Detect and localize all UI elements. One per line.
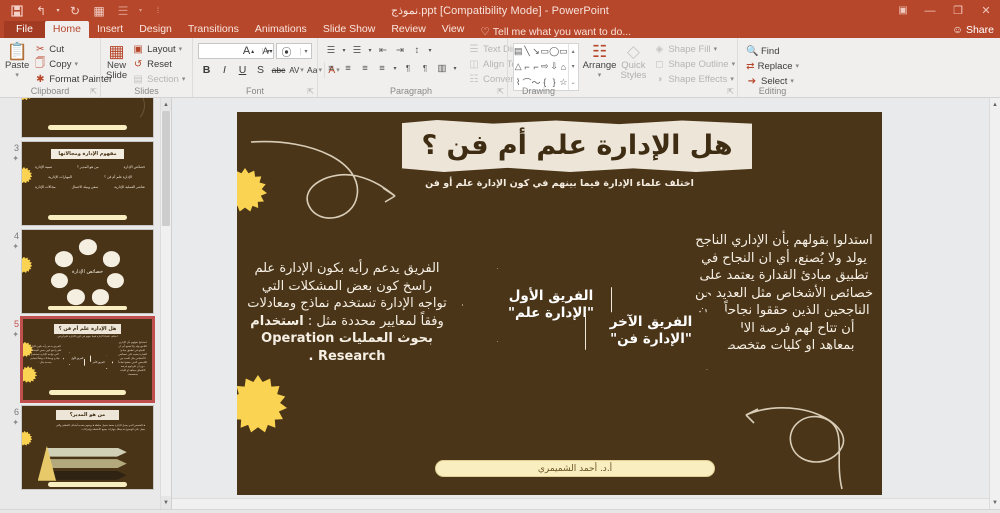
starburst-icon — [237, 375, 287, 433]
slide-horizontal-scrollbar[interactable] — [172, 498, 989, 509]
shapes-scroll-up-icon[interactable]: ▴ — [569, 44, 578, 59]
thumbnail-slide[interactable]: خصائص الإدارة — [21, 229, 154, 314]
list-item[interactable]: Management's Concept and Stage — [6, 98, 154, 138]
quick-access-toolbar[interactable]: ↰ ▾ ↻ ▦ ☰ ▾ ⁞ — [0, 1, 169, 20]
list-item[interactable]: 3 ✦ مفهوم الإدارة ومجالاتها تنمية الإدار… — [6, 138, 154, 226]
title-bar: ↰ ▾ ↻ ▦ ☰ ▾ ⁞ نموذج.ppt [Compatibility M… — [0, 0, 1000, 21]
shape-fill-label: Shape Fill — [668, 44, 710, 55]
tab-insert[interactable]: Insert — [89, 21, 131, 38]
bullets-icon[interactable]: ☰ — [112, 1, 134, 20]
copy-caret-icon[interactable]: ▾ — [74, 60, 78, 68]
align-center-button[interactable]: ≡ — [340, 61, 356, 76]
italic-glyph: I — [223, 64, 226, 76]
thumbnail-number-label: 4 — [14, 231, 19, 241]
layout-label: Layout — [147, 44, 176, 55]
align-left-glyph: ≡ — [328, 63, 334, 74]
tab-home[interactable]: Home — [45, 21, 89, 38]
shape-fill-button[interactable]: ◈ Shape Fill ▾ — [650, 42, 738, 56]
pyramid-bar-1 — [46, 448, 127, 457]
slide-vertical-scrollbar[interactable]: ▲ ▼ — [989, 98, 1000, 509]
shape-textbox-icon[interactable]: ▤ — [514, 44, 523, 59]
arrow-left-line-2: "الإدارة علم" — [508, 305, 594, 322]
thumbnails-scrollbar[interactable]: ▲ ▼ — [160, 98, 171, 509]
copy-label: Copy — [49, 59, 71, 70]
starburst-icon — [21, 257, 32, 274]
ribbon-group-slides: ▦ New Slide ▣ Layout ▾ ↺ Reset ▤ Section… — [100, 38, 192, 97]
shape-outline-button[interactable]: ◻ Shape Outline ▾ — [650, 57, 738, 71]
starburst-icon — [21, 366, 37, 383]
arrange-button[interactable]: ☷ Arrange ▾ — [583, 40, 617, 81]
align-right-button[interactable]: ≡ — [357, 61, 373, 76]
bullets-glyph: ☰ — [327, 45, 336, 56]
ribbon-display-options-icon[interactable]: ▣ — [890, 0, 916, 21]
thumbnail-right-text: استدلوا بقولهم بأن الإداري الناجح يولد و… — [117, 341, 148, 377]
arrow-right-line-2: "الإدارة فن" — [610, 331, 693, 348]
redo-glyph: ↻ — [70, 5, 80, 17]
quick-styles-label-2: Styles — [620, 71, 646, 81]
decrease-indent-glyph: ⇤ — [379, 45, 387, 56]
section-icon: ▤ — [132, 74, 144, 85]
star-icon: ✦ — [6, 154, 19, 164]
bullets-glyph: ☰ — [118, 5, 129, 17]
lightbulb-icon: ♡ — [480, 26, 489, 38]
swirl-arrow-decoration-bottom — [722, 385, 872, 495]
numbering-button[interactable]: ☰ — [349, 43, 365, 58]
text-shadow-button[interactable]: S — [252, 62, 269, 78]
scrollbar-thumb[interactable] — [162, 111, 170, 226]
slide-subtitle: اختلف علماء الإدارة فيما بينهم في كون ال… — [237, 178, 882, 189]
scroll-up-icon[interactable]: ▲ — [990, 98, 1000, 111]
restore-button[interactable]: ❐ — [944, 0, 972, 21]
circle-diagram — [53, 242, 121, 302]
layout-icon: ▣ — [132, 44, 144, 55]
shape-oval-icon[interactable]: ◯ — [549, 44, 559, 59]
thumbnail-number-label: 3 — [14, 143, 19, 153]
font-size-caret-icon[interactable]: ▾ — [300, 48, 311, 55]
shapes-gallery[interactable]: ▤ ╲ ↘ ▭ ◯ ▭ △ ⌐ ⌐ ⇨ ⇩ ⌂ ⌇ ⌒ 〜 { } — [513, 43, 579, 91]
thumbnail-banner — [48, 306, 127, 310]
qat-more-icon[interactable]: ⁞ — [147, 1, 169, 20]
thumbnail-slide[interactable]: مفهوم الإدارة ومجالاتها تنمية الإدارة من… — [21, 141, 154, 226]
shape-right-arrow-icon[interactable]: ⇨ — [541, 59, 550, 74]
thumbnail-heading: من هو المدير؟ — [56, 410, 119, 420]
shape-line-icon[interactable]: ╲ — [523, 44, 532, 59]
shape-fill-icon: ◈ — [653, 44, 665, 55]
replace-caret-icon[interactable]: ▾ — [795, 62, 799, 70]
clipboard-icon: 📋 — [7, 42, 28, 61]
ribbon-group-clipboard: 📋 Paste ▾ ✂ Cut 🗍 Copy ▾ ✱ Format Painte… — [0, 38, 100, 97]
undo-dropdown-icon[interactable]: ▾ — [54, 1, 62, 20]
bold-button[interactable]: B — [198, 62, 215, 78]
thumbnail-bullets: ● الشخص الذي يعمل الإدارة بصفة تحمل سلطة… — [51, 424, 145, 432]
star-icon: ✦ — [6, 330, 19, 340]
shape-effects-caret-icon: ▾ — [730, 75, 734, 83]
paragraph-group-label: Paragraph — [318, 86, 507, 96]
shadow-glyph: S — [257, 64, 264, 76]
new-slide-label-2: Slide — [106, 71, 127, 81]
window-controls[interactable]: ▣ — ❐ ✕ — [890, 0, 1000, 21]
starburst-icon — [21, 98, 34, 100]
paste-button[interactable]: 📋 Paste ▾ — [5, 40, 29, 81]
shape-elbow-icon[interactable]: ⌐ — [523, 59, 532, 74]
start-presentation-icon[interactable]: ▦ — [88, 1, 110, 20]
tab-slide-show[interactable]: Slide Show — [315, 21, 384, 38]
align-center-glyph: ≡ — [345, 63, 351, 74]
pyramid-bar-2 — [46, 459, 127, 468]
arrow-left-line-1: الفريق الأول — [508, 288, 594, 305]
drawing-dialog-launcher-icon[interactable]: ⇱ — [727, 87, 734, 96]
thumbnail-slide[interactable]: من هو المدير؟ ● الشخص الذي يعمل الإدارة … — [21, 405, 154, 490]
replace-label: Replace — [758, 61, 793, 72]
paste-caret-icon[interactable]: ▾ — [15, 71, 19, 81]
thumbnail-banner — [48, 482, 127, 486]
decrease-indent-button[interactable]: ⇤ — [375, 43, 391, 58]
shape-pentagon-icon[interactable]: ⌂ — [559, 59, 568, 74]
save-icon[interactable] — [6, 1, 28, 20]
ribbon-group-editing: 🔍 Find ⇄ Replace ▾ ➔ Select ▾ Editing — [737, 38, 807, 97]
columns-glyph: ▥ — [438, 63, 447, 74]
layout-caret-icon[interactable]: ▾ — [179, 45, 183, 53]
arrange-label: Arrange — [583, 61, 617, 71]
thumbnail-heading: هل الإدارة علم أم فن ؟ — [54, 324, 121, 334]
cursor-icon: ➔ — [746, 76, 758, 87]
shape-rectangle-icon[interactable]: ▭ — [541, 44, 550, 59]
thumbnail-left-text: الفريق يدعم رأيه بكون الإدارة علم راسخ ك… — [28, 345, 62, 365]
align-left-button[interactable]: ≡ — [323, 61, 339, 76]
tell-me-search[interactable]: ♡ Tell me what you want to do... — [480, 26, 631, 38]
scroll-down-icon[interactable]: ▼ — [161, 496, 171, 509]
strikethrough-button[interactable]: abc — [270, 62, 287, 78]
increase-font-size-button[interactable]: A▴ — [240, 43, 257, 59]
section-label: Section — [147, 74, 179, 85]
font-dialog-launcher-icon[interactable]: ⇱ — [307, 87, 314, 96]
thumbnail-list[interactable]: Management's Concept and Stage 3 ✦ مفهوم… — [0, 98, 160, 509]
underline-button[interactable]: U — [234, 62, 251, 78]
slide-editing-canvas[interactable]: هل الإدارة علم أم فن ؟ اختلف علماء الإدا… — [172, 98, 1000, 509]
line-spacing-button[interactable]: ↕ — [409, 43, 425, 58]
justify-glyph: ≡ — [379, 63, 385, 74]
undo-icon[interactable]: ↰ — [30, 1, 52, 20]
quick-styles-icon: ◇ — [627, 42, 640, 61]
work-area: Management's Concept and Stage 3 ✦ مفهوم… — [0, 98, 1000, 509]
tab-review[interactable]: Review — [383, 21, 433, 38]
person-icon: ☺ — [952, 24, 963, 36]
ltr-glyph: ¶ — [406, 64, 410, 73]
select-caret-icon[interactable]: ▾ — [790, 77, 794, 85]
thumbnail-number-label: 6 — [14, 407, 19, 417]
tell-me-placeholder: Tell me what you want to do... — [493, 26, 631, 38]
reset-label: Reset — [147, 59, 172, 70]
line-spacing-caret-icon[interactable]: ▾ — [426, 43, 434, 58]
star-icon: ✦ — [6, 242, 19, 252]
ribbon-group-font: ▾ ▾ B I U S abc AV▾ Aa▾ A▾ A▴ A▾ ⦿ — [192, 38, 317, 97]
ribbon: 📋 Paste ▾ ✂ Cut 🗍 Copy ▾ ✱ Format Painte… — [0, 38, 1000, 98]
pyramid-bar-3 — [46, 471, 127, 480]
slide-title-band[interactable]: هل الإدارة علم أم فن ؟ — [402, 120, 752, 172]
clipboard-group-label: Clipboard — [0, 86, 100, 96]
select-label: Select — [761, 76, 787, 87]
ltr-button[interactable]: ¶ — [400, 61, 416, 76]
shape-rounded-rect-icon[interactable]: ▭ — [559, 44, 568, 59]
align-text-icon: ◫ — [468, 59, 480, 70]
list-item[interactable]: 5 ✦ هل الإدارة علم أم فن ؟ اختلف علماء ا… — [6, 314, 154, 402]
shape-outline-caret-icon: ▾ — [732, 60, 736, 68]
list-item[interactable]: 4 ✦ خصائص الإدارة — [6, 226, 154, 314]
shape-outline-icon: ◻ — [653, 59, 665, 70]
thumbnail-number: 6 ✦ — [6, 405, 19, 490]
char-spacing-glyph: AV — [289, 66, 299, 75]
shape-fill-caret-icon: ▾ — [714, 45, 718, 53]
shape-elbow-arrow-icon[interactable]: ⌐ — [532, 59, 541, 74]
find-button[interactable]: 🔍 Find — [743, 44, 802, 58]
thumbnail-slide[interactable]: Management's Concept and Stage — [21, 98, 154, 138]
thumbnail-banner — [49, 390, 126, 395]
bullets-button[interactable]: ☰ — [323, 43, 339, 58]
slide-title: هل الإدارة علم أم فن ؟ — [421, 131, 732, 161]
scroll-up-icon[interactable]: ▲ — [161, 98, 171, 111]
status-bar — [0, 509, 1000, 513]
thumbnail-banner — [48, 125, 127, 131]
redo-icon[interactable]: ↻ — [64, 1, 86, 20]
reset-icon: ↺ — [132, 59, 144, 70]
align-right-glyph: ≡ — [362, 63, 368, 74]
cut-label: Cut — [49, 44, 64, 55]
bullets-caret-icon[interactable]: ▾ — [340, 43, 348, 58]
ribbon-group-drawing: ▤ ╲ ↘ ▭ ◯ ▭ △ ⌐ ⌐ ⇨ ⇩ ⌂ ⌇ ⌒ 〜 { } — [507, 38, 737, 97]
reset-button[interactable]: ↺ Reset — [129, 57, 188, 71]
list-item[interactable]: 6 ✦ من هو المدير؟ ● الشخص الذي يعمل الإد… — [6, 402, 154, 490]
increase-indent-glyph: ⇥ — [396, 45, 404, 56]
tab-view[interactable]: View — [434, 21, 473, 38]
tab-transitions[interactable]: Transitions — [180, 21, 247, 38]
scroll-down-icon[interactable]: ▼ — [990, 496, 1000, 509]
quick-styles-button[interactable]: ◇ Quick Styles — [620, 40, 646, 81]
ribbon-tabs[interactable]: File Home Insert Design Transitions Anim… — [0, 21, 1000, 38]
qat-dropdown-icon[interactable]: ▾ — [136, 1, 145, 20]
strikethrough-glyph: abc — [272, 65, 286, 75]
character-spacing-button[interactable]: AV▾ — [288, 62, 305, 78]
thumbnail-number: 5 ✦ — [6, 317, 19, 402]
star-icon: ✦ — [6, 418, 19, 428]
tab-animations[interactable]: Animations — [247, 21, 315, 38]
starburst-icon — [21, 167, 32, 184]
slide-left-text-block[interactable]: الفريق يدعم رأيه بكون الإدارة علم راسخ ك… — [247, 260, 447, 365]
scissors-icon: ✂ — [34, 44, 46, 55]
undo-glyph: ↰ — [36, 5, 46, 17]
rtl-glyph: ¶ — [423, 64, 427, 73]
arrow-right-line-1: الفريق الآخر — [610, 314, 693, 331]
footer-banner-text: أ.د. أحمد الشميمري — [538, 464, 612, 474]
shapes-grid[interactable]: ▤ ╲ ↘ ▭ ◯ ▭ △ ⌐ ⌐ ⇨ ⇩ ⌂ ⌇ ⌒ 〜 { } — [514, 44, 568, 90]
thumbnail-number-label: 5 — [14, 319, 19, 329]
justify-button[interactable]: ≡ — [374, 61, 390, 76]
new-slide-button[interactable]: ▦ New Slide — [106, 40, 127, 81]
shapes-gallery-scroll[interactable]: ▴ ▾ ⌄ — [568, 44, 578, 90]
shapes-scroll-down-icon[interactable]: ▾ — [569, 59, 578, 74]
text-direction-icon: ☰ — [468, 44, 480, 55]
new-slide-icon: ▦ — [109, 42, 125, 61]
slides-group-label: Slides — [101, 86, 192, 96]
starburst-icon — [237, 168, 267, 212]
shape-arrow-icon[interactable]: ↘ — [532, 44, 541, 59]
paragraph-dialog-launcher-icon[interactable]: ⇱ — [497, 87, 504, 96]
shape-effects-label: Shape Effects — [668, 74, 727, 85]
paste-label: Paste — [5, 61, 29, 71]
arrange-icon: ☷ — [592, 42, 607, 61]
decrease-font-size-button[interactable]: A▾ — [259, 43, 276, 59]
minimize-button[interactable]: — — [916, 0, 944, 21]
layout-button[interactable]: ▣ Layout ▾ — [129, 42, 188, 56]
drawing-group-label: Drawing — [508, 86, 737, 96]
replace-button[interactable]: ⇄ Replace ▾ — [743, 59, 802, 73]
share-button[interactable]: ☺ Share — [952, 24, 994, 36]
columns-caret-icon[interactable]: ▾ — [451, 61, 459, 76]
tab-design[interactable]: Design — [131, 21, 180, 38]
justify-caret-icon[interactable]: ▾ — [391, 61, 399, 76]
thumbnail-banner — [48, 215, 127, 220]
thumbnail-number: 3 ✦ — [6, 141, 19, 226]
char-spacing-caret-icon[interactable]: ▾ — [300, 66, 304, 74]
clipboard-dialog-launcher-icon[interactable]: ⇱ — [90, 87, 97, 96]
numbering-caret-icon[interactable]: ▾ — [366, 43, 374, 58]
change-case-glyph: Aa — [307, 65, 317, 75]
numbering-glyph: ☰ — [353, 45, 362, 56]
arrange-caret-icon[interactable]: ▾ — [598, 71, 602, 81]
smartart-icon: ☷ — [468, 74, 480, 85]
shape-outline-label: Shape Outline — [668, 59, 728, 70]
font-group-label: Font — [193, 86, 317, 96]
ribbon-group-paragraph: ☰ ▾ ☰ ▾ ⇤ ⇥ ↕ ▾ ≡ ≡ ≡ ≡ ▾ ¶ ¶ ▥ — [317, 38, 507, 97]
thumbnail-number — [6, 98, 19, 138]
section-button[interactable]: ▤ Section ▾ — [129, 72, 188, 86]
italic-button[interactable]: I — [216, 62, 233, 78]
thumbnail-number: 4 ✦ — [6, 229, 19, 314]
close-button[interactable]: ✕ — [972, 0, 1000, 21]
shape-down-arrow-icon[interactable]: ⇩ — [549, 59, 559, 74]
shape-effects-button[interactable]: ◑ Shape Effects ▾ — [650, 72, 738, 86]
paintbrush-icon: ✱ — [34, 74, 46, 85]
columns-button[interactable]: ▥ — [434, 61, 450, 76]
swirl-decoration — [116, 98, 145, 122]
increase-indent-button[interactable]: ⇥ — [392, 43, 408, 58]
underline-glyph: U — [239, 64, 247, 76]
find-label: Find — [761, 46, 779, 57]
slide-thumbnails-pane[interactable]: Management's Concept and Stage 3 ✦ مفهوم… — [0, 98, 172, 509]
search-icon: 🔍 — [746, 46, 758, 57]
share-label: Share — [966, 24, 994, 36]
rtl-button[interactable]: ¶ — [417, 61, 433, 76]
shape-triangle-icon[interactable]: △ — [514, 59, 523, 74]
copy-icon: 🗍 — [34, 56, 46, 73]
present-glyph: ▦ — [93, 5, 104, 17]
swirl-arrow-decoration — [245, 134, 405, 244]
section-caret-icon: ▾ — [182, 75, 186, 83]
shape-effects-icon: ◑ — [653, 74, 665, 85]
starburst-icon — [21, 431, 32, 446]
bold-glyph: B — [203, 64, 211, 76]
replace-icon: ⇄ — [746, 61, 755, 72]
clear-formatting-button[interactable]: ⦿ — [278, 43, 295, 59]
thumbnail-heading: مفهوم الإدارة ومجالاتها — [51, 149, 124, 160]
current-slide[interactable]: هل الإدارة علم أم فن ؟ اختلف علماء الإدا… — [237, 112, 882, 495]
slide-footer-banner[interactable]: أ.د. أحمد الشميمري — [435, 460, 715, 477]
tab-file[interactable]: File — [4, 21, 45, 38]
editing-group-label: Editing — [738, 86, 807, 96]
thumbnail-subtitle: اختلف علماء الإدارة فيما بينهم في كون ال… — [57, 335, 119, 338]
line-spacing-glyph: ↕ — [415, 45, 420, 56]
thumbnail-slide-selected[interactable]: هل الإدارة علم أم فن ؟ اختلف علماء الإدا… — [21, 317, 154, 402]
